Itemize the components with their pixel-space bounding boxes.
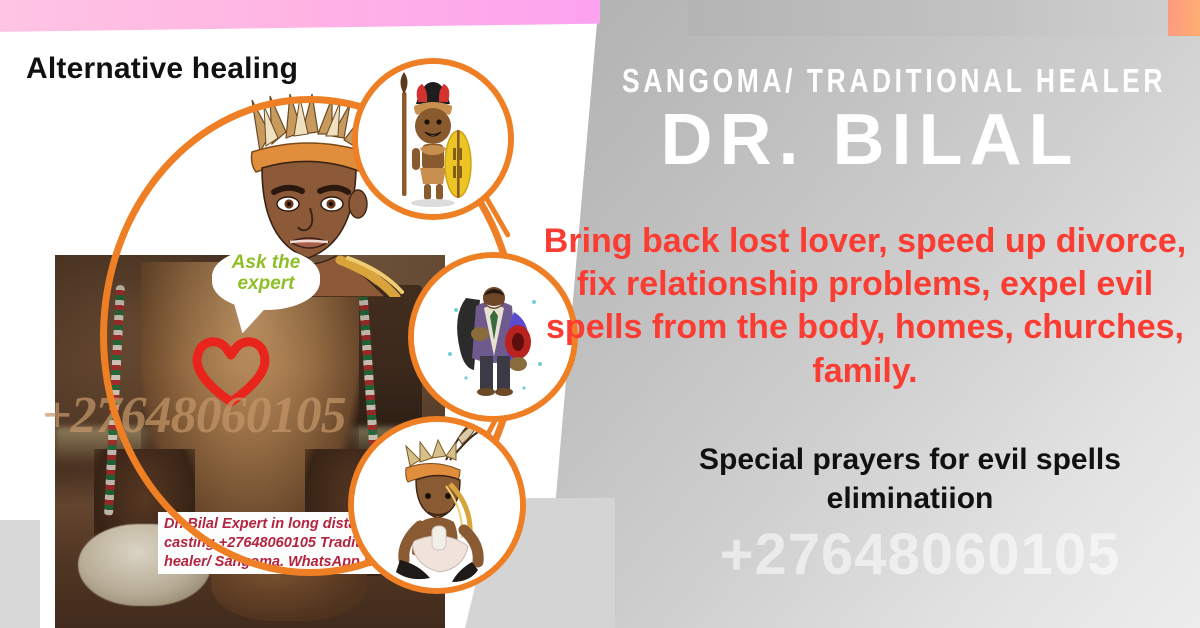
top-gray-bar — [688, 0, 1170, 36]
top-salmon-bar — [1168, 0, 1200, 36]
brand-name: DR. BILAL — [560, 104, 1180, 177]
kicker-heading: SANGOMA/ TRADITIONAL HEALER — [622, 62, 1118, 100]
poster-canvas: Alternative healing — [0, 0, 1200, 628]
speech-bubble-label: Ask the expert — [212, 252, 320, 295]
left-bottom-gray-strip — [0, 520, 40, 628]
top-pink-bar — [0, 0, 600, 32]
page-title: Alternative healing — [26, 52, 298, 86]
special-prayers-text: Special prayers for evil spells eliminat… — [620, 440, 1200, 518]
sangoma-dancer-illustration — [348, 416, 526, 594]
phone-watermark: +27648060105 — [640, 521, 1200, 588]
warrior-illustration — [352, 58, 514, 220]
services-text: Bring back lost lover, speed up divorce,… — [540, 220, 1190, 393]
